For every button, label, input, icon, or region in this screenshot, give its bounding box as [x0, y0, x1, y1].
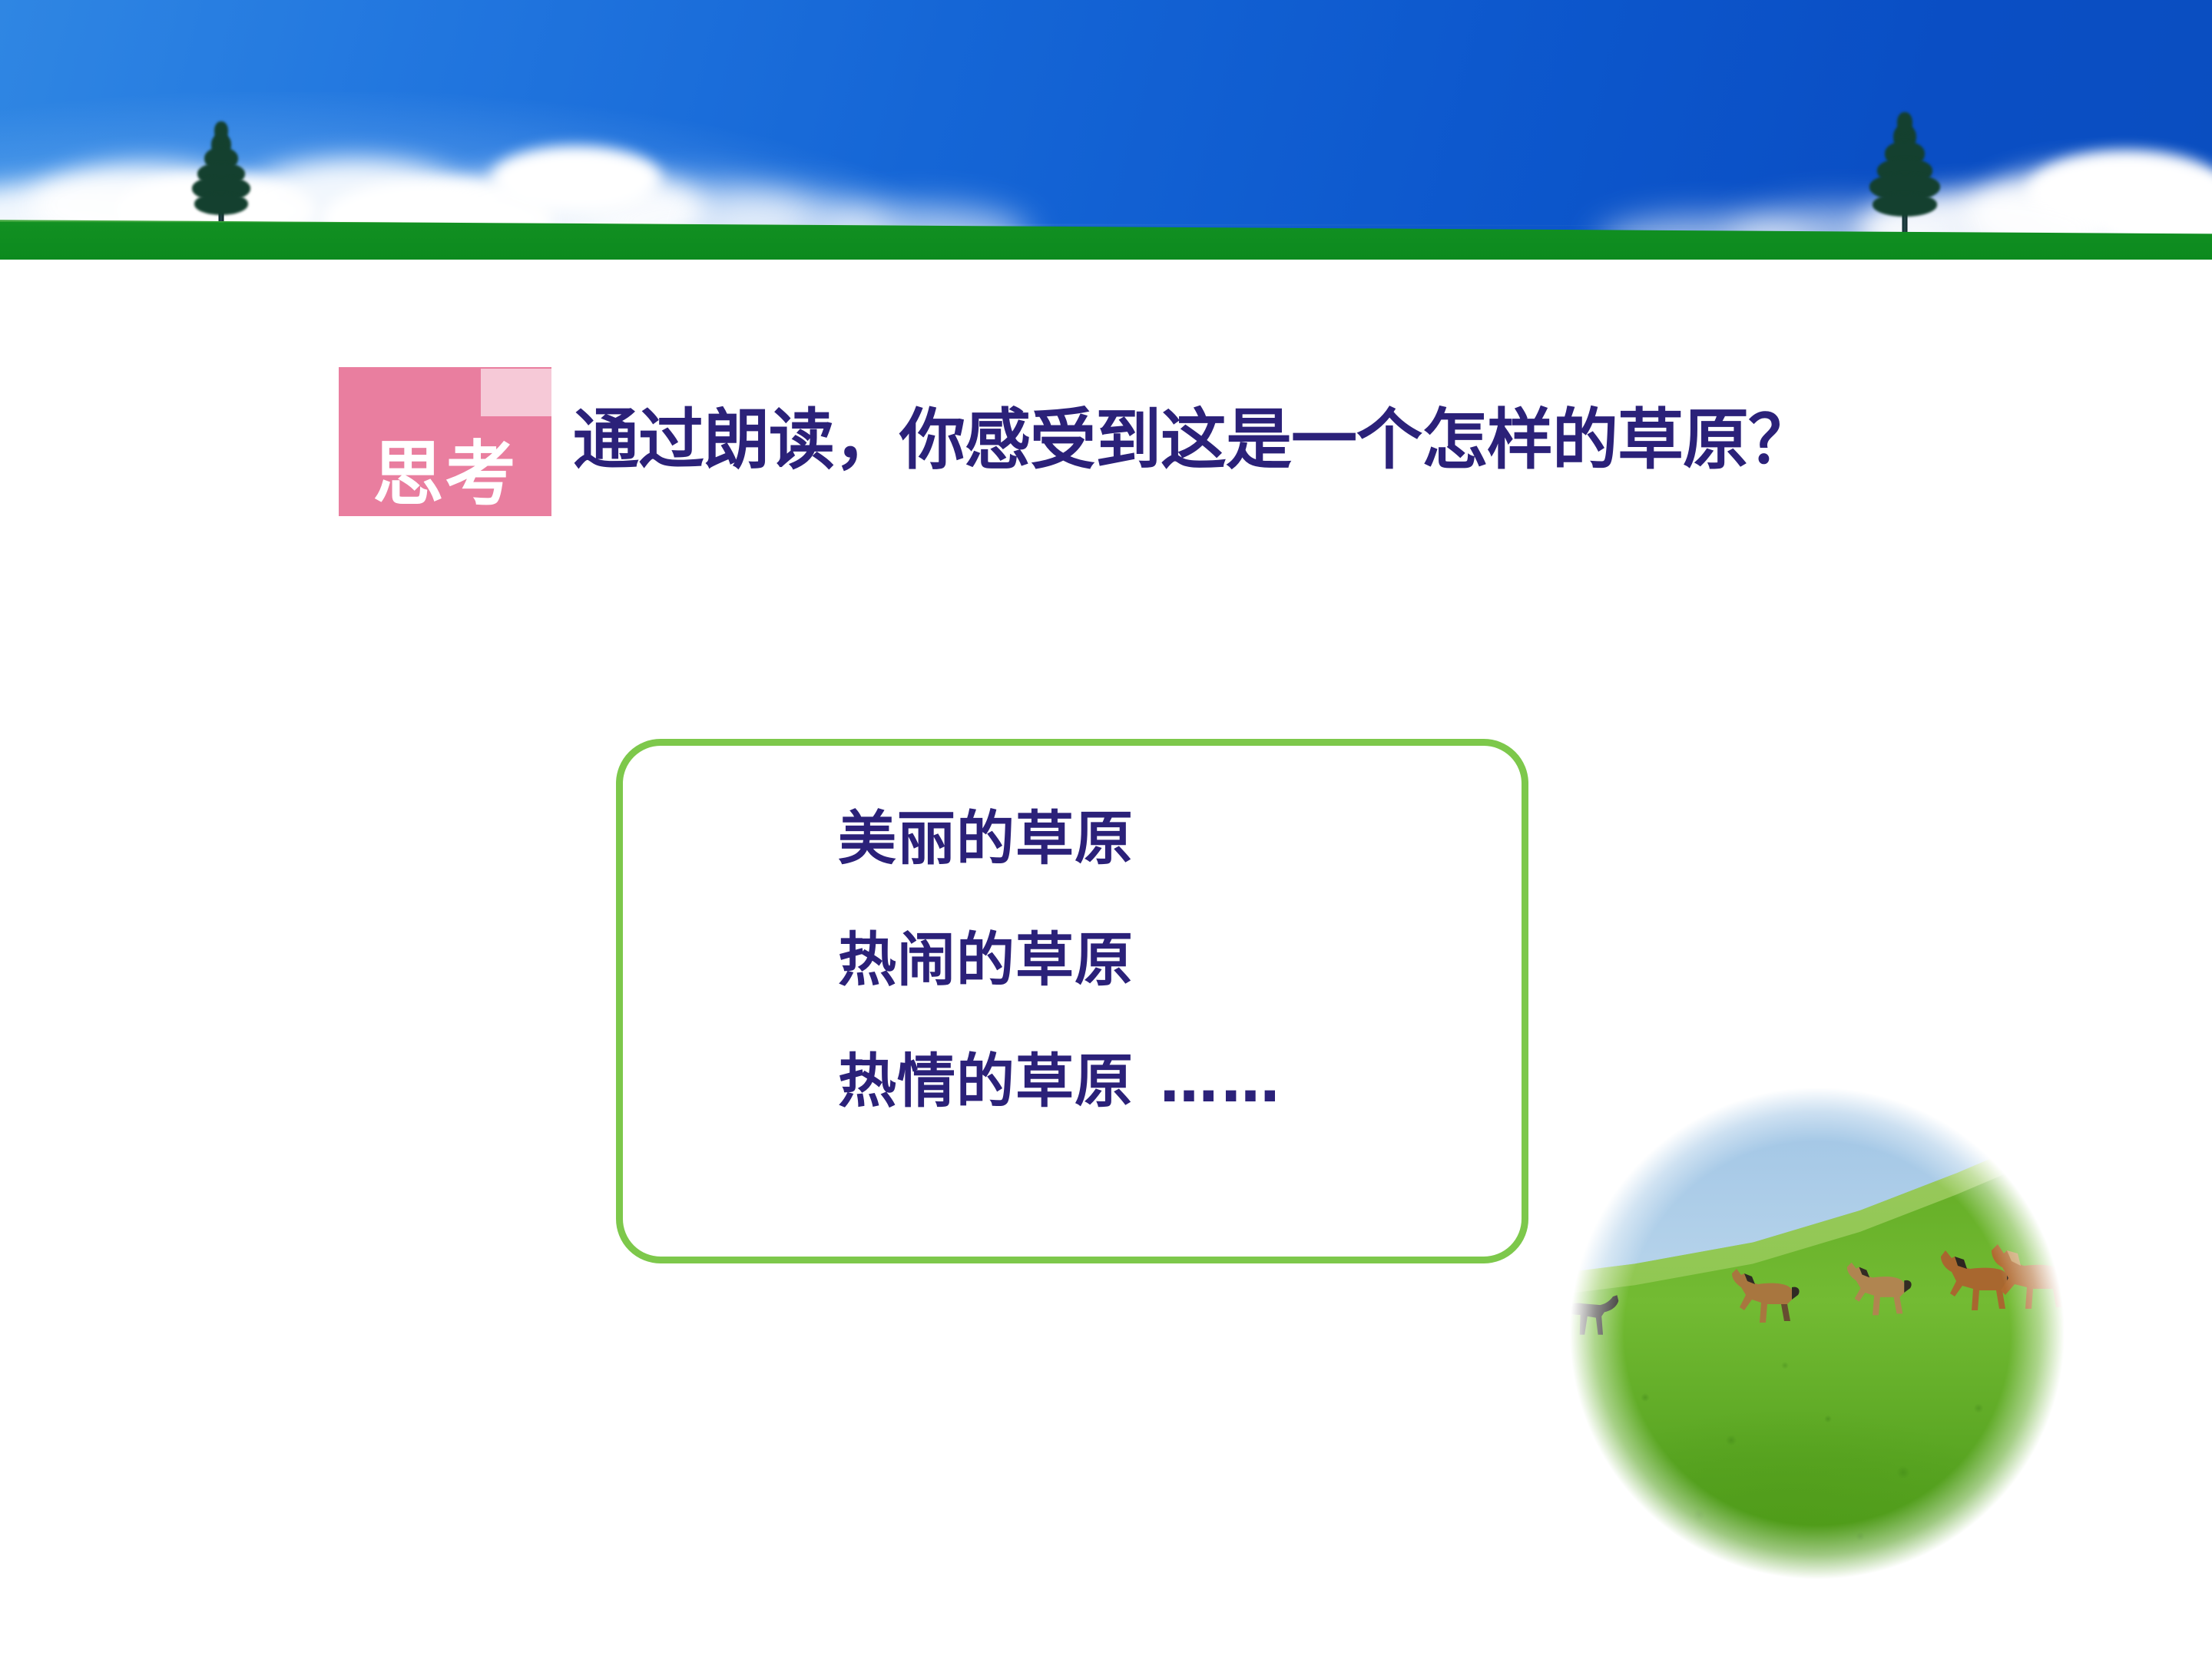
badge-accent-chip: [481, 369, 551, 416]
thinking-badge: 思考: [339, 367, 551, 516]
cloud-icon: [492, 146, 661, 210]
answer-ellipsis: ……: [1160, 1047, 1283, 1115]
title-row: 思考 通过朗读，你感受到这是一个怎样的草原？: [339, 367, 1813, 521]
page-title: 通过朗读，你感受到这是一个怎样的草原？: [573, 367, 1813, 513]
answer-text: 美丽的草原: [838, 804, 1134, 873]
list-item: 热情的草原……: [838, 1048, 1283, 1114]
horse-icon: [1720, 1260, 1806, 1336]
answer-text: 热情的草原: [838, 1047, 1134, 1115]
list-item: 热闹的草原: [838, 927, 1283, 993]
horses-grassland-photo: [1548, 1066, 2086, 1601]
badge-label: 思考: [339, 438, 551, 512]
list-item: 美丽的草原: [838, 806, 1283, 872]
horse-icon: [1559, 1280, 1630, 1350]
answer-list: 美丽的草原 热闹的草原 热情的草原……: [838, 806, 1283, 1114]
horse-icon: [1979, 1240, 2075, 1323]
answer-box: 美丽的草原 热闹的草原 热情的草原……: [616, 739, 1528, 1263]
answer-text: 热闹的草原: [838, 926, 1134, 994]
grassland-banner: [0, 0, 2212, 260]
horse-icon: [1839, 1255, 1916, 1327]
